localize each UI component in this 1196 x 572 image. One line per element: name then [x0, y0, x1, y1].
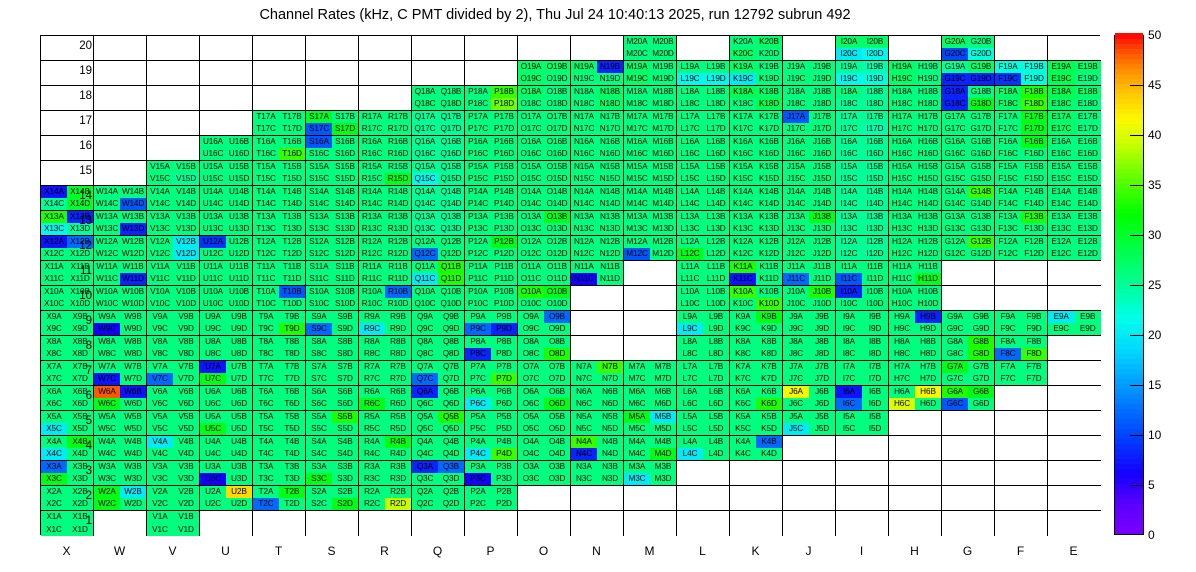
channel-cell — [650, 323, 676, 335]
channel-cell: N13C — [571, 223, 597, 235]
channel-cell: O10C — [518, 298, 544, 310]
channel-label: X5C — [46, 425, 62, 433]
module-cell: U2AU2BU2CU2D — [200, 486, 253, 511]
channel-label: R17D — [388, 125, 409, 133]
channel-cell: T16B — [279, 136, 305, 148]
channel-label: H16C — [892, 150, 913, 158]
module-cell — [1048, 511, 1101, 536]
channel-label: O11C — [521, 275, 541, 283]
channel-cell: L4C — [677, 448, 703, 460]
channel-label: I12A — [841, 238, 857, 246]
channel-label: U13C — [203, 225, 224, 233]
channel-cell — [120, 36, 146, 48]
channel-cell: X1A — [41, 511, 67, 524]
channel-cell: S15D — [332, 173, 358, 185]
channel-label: R11D — [388, 275, 408, 283]
channel-label: V4D — [178, 450, 194, 458]
channel-cell: L9A — [677, 311, 703, 323]
channel-label: H14B — [918, 188, 938, 196]
channel-label: T15B — [282, 163, 301, 171]
channel-cell — [1048, 348, 1075, 360]
channel-label: U10C — [203, 300, 224, 308]
channel-cell: F17D — [1021, 123, 1047, 135]
channel-cell: P12D — [491, 248, 517, 260]
channel-cell: N17D — [597, 123, 623, 135]
channel-cell — [597, 286, 623, 298]
channel-label: I17B — [867, 113, 883, 121]
channel-cell: V5C — [147, 423, 173, 435]
channel-label: W3B — [124, 463, 141, 471]
channel-label: J12B — [813, 238, 831, 246]
channel-cell — [677, 473, 703, 485]
channel-label: W8B — [124, 338, 141, 346]
channel-label: M7A — [629, 363, 646, 371]
channel-cell: G16A — [942, 136, 968, 148]
channel-label: L5C — [683, 425, 698, 433]
channel-cell: K18C — [730, 98, 756, 110]
channel-label: L19D — [706, 75, 725, 83]
channel-cell — [491, 524, 517, 537]
channel-cell — [597, 498, 623, 510]
channel-label: G16B — [971, 138, 992, 146]
module-cell — [571, 336, 624, 361]
module-cell — [571, 311, 624, 336]
channel-cell: N11D — [597, 273, 623, 285]
channel-label: N12A — [574, 238, 594, 246]
channel-cell: E16C — [1048, 148, 1075, 160]
module-cell: R5AR5BR5CR5D — [359, 411, 412, 436]
channel-cell — [120, 111, 146, 123]
channel-label: H18C — [892, 100, 913, 108]
channel-cell — [173, 136, 199, 148]
module-cell: O12AO12BO12CO12D — [518, 236, 571, 261]
channel-cell: I17D — [862, 123, 888, 135]
channel-cell: F8A — [995, 336, 1021, 348]
module-cell: H13AH13BH13CH13D — [889, 211, 942, 236]
module-cell: U10AU10BU10CU10D — [200, 286, 253, 311]
module-cell: M12AM12BM12CM12D — [624, 236, 677, 261]
channel-label: O6B — [549, 388, 565, 396]
channel-label: H12B — [918, 238, 938, 246]
channel-label: O6D — [549, 400, 566, 408]
channel-cell: J8C — [783, 348, 809, 360]
channel-cell: P16B — [491, 136, 517, 148]
channel-cell: M7C — [624, 373, 650, 385]
channel-cell: R9D — [385, 323, 411, 335]
channel-label: F8C — [1000, 350, 1015, 358]
module-cell: K18AK18BK18CK18D — [730, 86, 783, 111]
module-cell — [253, 511, 306, 536]
channel-cell: I15C — [836, 173, 862, 185]
channel-label: M19D — [652, 75, 673, 83]
channel-cell: S8A — [306, 336, 332, 348]
channel-cell — [120, 161, 146, 173]
channel-label: L12C — [680, 250, 699, 258]
channel-cell: H15B — [915, 161, 941, 173]
channel-label: I19A — [841, 63, 857, 71]
module-cell: P7AP7BP7CP7D — [465, 361, 518, 386]
channel-label: E13B — [1078, 213, 1098, 221]
channel-label: F19A — [998, 63, 1017, 71]
channel-label: L10B — [707, 288, 726, 296]
channel-label: O13D — [547, 225, 568, 233]
channel-cell: S9A — [306, 311, 332, 323]
channel-cell — [650, 261, 676, 273]
channel-cell — [1075, 373, 1102, 385]
channel-label: E9A — [1054, 313, 1069, 321]
channel-cell: H13C — [889, 223, 915, 235]
channel-label: R6B — [390, 388, 406, 396]
channel-cell: F16B — [1021, 136, 1047, 148]
channel-cell: U15A — [200, 161, 226, 173]
channel-cell: O12A — [518, 236, 544, 248]
channel-label: M18C — [626, 100, 647, 108]
channel-cell: O14D — [544, 198, 570, 210]
channel-label: I18D — [867, 100, 884, 108]
channel-cell: R17B — [385, 111, 411, 123]
channel-cell: F15B — [1021, 161, 1047, 173]
channel-cell: I11B — [862, 261, 888, 273]
channel-cell: V8C — [147, 348, 173, 360]
channel-label: H8A — [894, 338, 910, 346]
channel-label: R3D — [390, 475, 406, 483]
channel-cell — [1075, 348, 1102, 360]
channel-cell: O6C — [518, 398, 544, 410]
channel-cell: W13A — [94, 211, 120, 223]
channel-label: Q15B — [441, 163, 462, 171]
channel-label: X10C — [44, 300, 64, 308]
module-cell: Q18AQ18BQ18CQ18D — [412, 86, 465, 111]
channel-label: R11A — [362, 263, 381, 271]
channel-cell — [41, 86, 67, 98]
channel-cell: T16C — [253, 148, 279, 160]
channel-cell — [120, 123, 146, 135]
channel-label: N5D — [602, 425, 618, 433]
channel-cell — [703, 524, 729, 537]
module-cell — [359, 61, 412, 86]
channel-label: N3A — [576, 463, 592, 471]
channel-label: O19B — [547, 63, 568, 71]
colorbar-tick-mark — [1130, 185, 1144, 186]
channel-cell: T3C — [253, 473, 279, 485]
channel-cell: O13B — [544, 211, 570, 223]
channel-cell: T15C — [253, 173, 279, 185]
module-cell: O11AO11BO11CO11D — [518, 261, 571, 286]
channel-label: M4D — [655, 450, 672, 458]
channel-cell: O17D — [544, 123, 570, 135]
channel-cell — [279, 61, 305, 73]
module-cell — [412, 36, 465, 61]
module-cell — [677, 36, 730, 61]
channel-cell: R14A — [359, 186, 385, 198]
channel-label: T8B — [285, 338, 300, 346]
channel-cell: U5D — [226, 423, 252, 435]
channel-label: W5C — [98, 425, 116, 433]
channel-cell: F8B — [1021, 336, 1047, 348]
channel-cell: R14B — [385, 186, 411, 198]
module-cell: G7AG7BG7CG7D — [942, 361, 995, 386]
channel-cell: H15C — [889, 173, 915, 185]
channel-cell — [597, 311, 623, 323]
channel-label: I6C — [843, 400, 855, 408]
channel-cell: M3D — [650, 473, 676, 485]
channel-cell: S2D — [332, 498, 358, 510]
channel-cell: I8A — [836, 336, 862, 348]
channel-label: F17B — [1024, 113, 1043, 121]
channel-label: X9A — [46, 313, 61, 321]
channel-label: T14C — [256, 200, 276, 208]
module-cell — [1048, 36, 1101, 61]
channel-label: O13B — [547, 213, 568, 221]
channel-label: G20C — [945, 50, 966, 58]
channel-label: V5A — [152, 413, 167, 421]
module-cell: S2AS2BS2CS2D — [306, 486, 359, 511]
channel-label: I11C — [841, 275, 857, 283]
channel-label: O19D — [547, 75, 568, 83]
channel-label: P3D — [496, 475, 512, 483]
channel-cell: L4D — [703, 448, 729, 460]
channel-cell: H6A — [889, 386, 915, 398]
channel-cell: E17B — [1075, 111, 1102, 123]
channel-cell: L5D — [703, 423, 729, 435]
channel-cell: X10A — [41, 286, 67, 298]
channel-label: M19B — [653, 63, 674, 71]
channel-cell: M3A — [624, 461, 650, 473]
channel-label: U10A — [203, 288, 223, 296]
channel-cell: E16A — [1048, 136, 1075, 148]
channel-cell: O4A — [518, 436, 544, 448]
channel-label: T5B — [285, 413, 300, 421]
channel-label: M13B — [653, 213, 674, 221]
channel-cell — [226, 98, 252, 110]
x-axis-label: M — [630, 544, 670, 558]
channel-cell: I15B — [862, 161, 888, 173]
channel-cell: N11B — [597, 261, 623, 273]
channel-cell — [253, 73, 279, 85]
channel-cell: S8D — [332, 348, 358, 360]
channel-cell: R10D — [385, 298, 411, 310]
channel-cell: P2B — [491, 486, 517, 498]
channel-label: P12C — [468, 250, 488, 258]
channel-cell — [1075, 336, 1102, 348]
module-cell: N17AN17BN17CN17D — [571, 111, 624, 136]
channel-label: M13D — [652, 225, 673, 233]
channel-cell: R16C — [359, 148, 385, 160]
channel-cell: R10C — [359, 298, 385, 310]
channel-cell — [968, 486, 994, 498]
channel-cell: T7D — [279, 373, 305, 385]
module-cell: V10AV10BV10CV10D — [147, 286, 200, 311]
channel-cell: O14A — [518, 186, 544, 198]
channel-cell: I13C — [836, 223, 862, 235]
channel-cell — [544, 48, 570, 60]
channel-cell: N15C — [571, 173, 597, 185]
channel-cell — [968, 511, 994, 524]
channel-label: G19A — [945, 63, 966, 71]
channel-cell: U2A — [200, 486, 226, 498]
colorbar-tick-mark — [1130, 85, 1144, 86]
channel-cell: O11C — [518, 273, 544, 285]
channel-cell — [1075, 461, 1102, 473]
channel-cell: J19B — [809, 61, 835, 73]
channel-label: E16B — [1078, 138, 1098, 146]
channel-cell: T10C — [253, 298, 279, 310]
channel-label: O4A — [523, 438, 539, 446]
module-cell: U8AU8BU8CU8D — [200, 336, 253, 361]
channel-label: R5B — [390, 413, 406, 421]
channel-label: S11C — [309, 275, 328, 283]
channel-cell: H9D — [915, 323, 941, 335]
channel-label: I12C — [841, 250, 858, 258]
module-cell: E18AE18BE18CE18D — [1048, 86, 1101, 111]
channel-cell: L11B — [703, 261, 729, 273]
module-cell: O4AO4BO4CO4D — [518, 436, 571, 461]
module-cell: H19AH19BH19CH19D — [889, 61, 942, 86]
module-cell: I15AI15BI15CI15D — [836, 161, 889, 186]
channel-label: P9A — [470, 313, 485, 321]
channel-cell: K16B — [756, 136, 782, 148]
channel-cell: H13A — [889, 211, 915, 223]
channel-cell: Q13C — [412, 223, 438, 235]
module-cell: W3AW3BW3CW3D — [94, 461, 147, 486]
module-cell: K19AK19BK19CK19D — [730, 61, 783, 86]
channel-cell: R9C — [359, 323, 385, 335]
channel-label: I8A — [843, 338, 855, 346]
channel-label: W8D — [124, 350, 142, 358]
channel-cell: H18A — [889, 86, 915, 98]
channel-label: G6A — [947, 388, 963, 396]
channel-cell: X5A — [41, 411, 67, 423]
channel-cell — [200, 48, 226, 60]
module-cell — [889, 486, 942, 511]
channel-cell — [385, 36, 411, 48]
channel-cell: W8C — [94, 348, 120, 360]
module-cell — [94, 36, 147, 61]
channel-cell — [862, 486, 888, 498]
channel-cell: R7A — [359, 361, 385, 373]
channel-cell — [650, 298, 676, 310]
channel-cell: I16A — [836, 136, 862, 148]
channel-cell — [942, 423, 968, 435]
channel-cell — [942, 524, 968, 537]
channel-label: O5C — [523, 425, 540, 433]
channel-label: M6C — [629, 400, 646, 408]
channel-cell: F14A — [995, 186, 1021, 198]
page-title: Channel Rates (kHz, C PMT divided by 2),… — [0, 7, 1110, 23]
channel-cell: G7D — [968, 373, 994, 385]
channel-label: T2A — [259, 488, 274, 496]
module-cell — [677, 461, 730, 486]
channel-cell — [491, 73, 517, 85]
channel-label: J13D — [813, 225, 832, 233]
channel-cell: K17D — [756, 123, 782, 135]
channel-cell: X13C — [41, 223, 67, 235]
channel-cell: Q7D — [438, 373, 464, 385]
channel-label: R13D — [388, 225, 409, 233]
channel-label: E12A — [1051, 238, 1071, 246]
channel-cell — [1021, 524, 1047, 537]
channel-label: S12B — [335, 238, 355, 246]
channel-cell: O7A — [518, 361, 544, 373]
channel-cell: H9B — [915, 311, 941, 323]
channel-cell: N19A — [571, 61, 597, 73]
channel-cell — [1075, 298, 1102, 310]
channel-cell: X8A — [41, 336, 67, 348]
channel-cell: L9D — [703, 323, 729, 335]
channel-cell — [995, 298, 1021, 310]
channel-cell: E9D — [1075, 323, 1102, 335]
channel-cell — [624, 286, 650, 298]
channel-label: P6A — [470, 388, 485, 396]
channel-cell: N16A — [571, 136, 597, 148]
channel-label: N19B — [600, 63, 620, 71]
channel-label: X11A — [44, 263, 63, 271]
module-cell: U6AU6BU6CU6D — [200, 386, 253, 411]
module-cell — [94, 136, 147, 161]
channel-cell: N5C — [571, 423, 597, 435]
channel-label: V2D — [178, 500, 194, 508]
channel-cell: V3D — [173, 473, 199, 485]
channel-label: K17A — [733, 113, 753, 121]
channel-label: M4C — [629, 450, 646, 458]
channel-cell: V3A — [147, 461, 173, 473]
channel-cell — [147, 61, 173, 73]
channel-label: I9D — [869, 325, 881, 333]
channel-cell: J13B — [809, 211, 835, 223]
channel-cell: K15D — [756, 173, 782, 185]
channel-label: K12B — [759, 238, 779, 246]
channel-label: O12C — [521, 250, 542, 258]
channel-cell — [756, 524, 782, 537]
channel-label: W8C — [98, 350, 116, 358]
channel-cell: V1C — [147, 524, 173, 537]
channel-label: R10D — [388, 300, 409, 308]
channel-cell: T11B — [279, 261, 305, 273]
channel-cell: X2A — [41, 486, 67, 498]
channel-cell: J19C — [783, 73, 809, 85]
channel-cell: I20A — [836, 36, 862, 48]
channel-cell: H8C — [889, 348, 915, 360]
channel-cell: J8B — [809, 336, 835, 348]
channel-cell: S2C — [306, 498, 332, 510]
channel-cell: R2A — [359, 486, 385, 498]
channel-label: T9A — [259, 313, 274, 321]
channel-cell — [597, 486, 623, 498]
channel-cell: P12B — [491, 236, 517, 248]
channel-cell: G12D — [968, 248, 994, 260]
channel-label: R15C — [362, 175, 383, 183]
channel-cell: J7A — [783, 361, 809, 373]
channel-label: I5B — [869, 413, 881, 421]
channel-cell — [332, 86, 358, 98]
channel-cell: H8B — [915, 336, 941, 348]
channel-cell: E13D — [1075, 223, 1102, 235]
channel-label: K8B — [761, 338, 776, 346]
channel-cell: H6C — [889, 398, 915, 410]
channel-cell: M6C — [624, 398, 650, 410]
channel-cell: I17B — [862, 111, 888, 123]
channel-label: F19B — [1024, 63, 1043, 71]
module-cell: L11AL11BL11CL11D — [677, 261, 730, 286]
channel-cell — [597, 511, 623, 524]
x-axis-label: F — [1001, 544, 1041, 558]
channel-label: R9D — [390, 325, 406, 333]
channel-cell — [995, 436, 1021, 448]
channel-label: Q9B — [443, 313, 459, 321]
channel-cell: J12D — [809, 248, 835, 260]
module-cell: G20AG20BG20CG20D — [942, 36, 995, 61]
channel-cell: P10D — [491, 298, 517, 310]
